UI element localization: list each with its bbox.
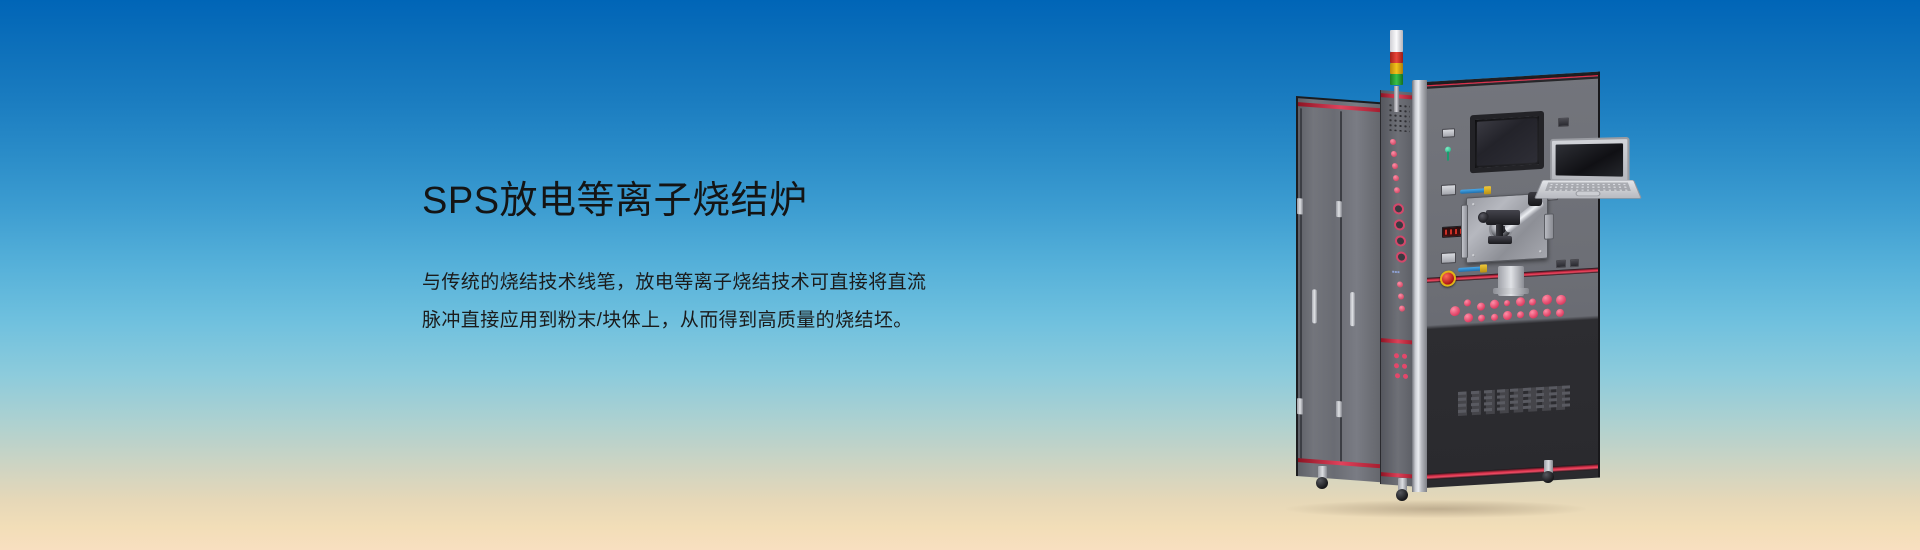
panel-button-right-1[interactable] [1558, 117, 1569, 127]
key-switch[interactable] [1444, 146, 1452, 160]
banner-text-block: SPS放电等离子烧结炉 与传统的烧结技术线笔，放电等离子烧结技术可直接将直流 脉… [422, 178, 1062, 341]
connector-port [1402, 364, 1407, 369]
connector-label: ■■■ [1392, 269, 1400, 275]
connector-port [1395, 373, 1400, 378]
caster-wheel [1396, 489, 1408, 501]
description-line-2: 脉冲直接应用到粉末/块体上，从而得到高质量的烧结坯。 [422, 302, 1062, 341]
caster-wheel-mid [1398, 478, 1408, 501]
toggle-switch[interactable] [1442, 128, 1455, 138]
connector-socket [1396, 251, 1407, 263]
lower-port [1450, 306, 1460, 317]
connector-port [1397, 281, 1403, 287]
laptop-trackpad[interactable] [1575, 191, 1600, 196]
connector-port [1391, 151, 1397, 157]
rear-cabinet-handle-1 [1312, 289, 1317, 323]
connector-port [1393, 175, 1399, 181]
front-top-trim [1424, 72, 1598, 89]
connector-port [1399, 305, 1405, 311]
camera-lens [1478, 212, 1489, 223]
connector-port [1392, 163, 1398, 169]
rear-cabinet-handle-2 [1350, 292, 1355, 326]
stack-light-red [1390, 52, 1403, 63]
lower-port [1491, 314, 1498, 321]
connector-socket [1393, 203, 1404, 215]
lower-port [1529, 309, 1538, 319]
panel-button-left-2[interactable] [1441, 252, 1456, 264]
key-switch-stem [1447, 152, 1449, 161]
arm-clamp-mount [1498, 266, 1524, 296]
connector-port [1398, 293, 1404, 299]
lower-port [1556, 309, 1564, 317]
lower-port [1503, 311, 1512, 321]
lower-port [1543, 308, 1551, 316]
rear-cabinet-hinge-1 [1297, 198, 1303, 214]
hero-banner: SPS放电等离子烧结炉 与传统的烧结技术线笔，放电等离子烧结技术可直接将直流 脉… [0, 0, 1920, 550]
caster-wheel [1542, 471, 1554, 483]
connector-port [1394, 353, 1399, 358]
caster-wheel-left [1318, 466, 1328, 489]
rear-cabinet-hinge-3 [1336, 201, 1342, 217]
sps-furnace-illustration: ■■■ [1296, 30, 1616, 520]
connector-port [1403, 374, 1408, 379]
control-laptop[interactable] [1542, 138, 1630, 212]
camera-body [1486, 210, 1520, 225]
stack-light-yellow [1390, 63, 1403, 74]
connector-socket [1394, 219, 1405, 231]
lower-vent-slats [1458, 385, 1570, 416]
emergency-stop-button[interactable] [1440, 270, 1456, 287]
laptop-keyboard[interactable] [1545, 183, 1631, 191]
connector-socket [1395, 235, 1406, 247]
connector-panel-trim-mid [1381, 338, 1415, 344]
description-line-1: 与传统的烧结技术线笔，放电等离子烧结技术可直接将直流 [422, 264, 1062, 303]
rear-cabinet-hinge-4 [1336, 401, 1342, 417]
laptop-base [1534, 180, 1642, 199]
cabinet-corner-post [1412, 80, 1427, 492]
inspection-camera [1478, 206, 1532, 250]
lower-port [1464, 313, 1473, 323]
laptop-display[interactable] [1556, 143, 1623, 176]
stack-light-cap [1390, 30, 1403, 52]
page-title: SPS放电等离子烧结炉 [422, 178, 1062, 226]
stack-light-green [1390, 74, 1403, 85]
laptop-lid [1550, 137, 1629, 183]
connector-port [1402, 354, 1407, 359]
connector-panel: ■■■ [1380, 90, 1416, 487]
lower-port [1517, 311, 1524, 318]
connector-port [1394, 187, 1400, 193]
stack-light-pole [1394, 86, 1399, 112]
chamber-hinge-bar [1461, 204, 1468, 258]
caster-wheel-right [1544, 460, 1554, 483]
panel-button-left-1[interactable] [1441, 184, 1456, 196]
connector-port [1394, 363, 1399, 368]
banner-description: 与传统的烧结技术线笔，放电等离子烧结技术可直接将直流 脉冲直接应用到粉末/块体上… [422, 264, 1062, 342]
stack-light-tower [1390, 30, 1403, 108]
lower-port [1464, 299, 1471, 306]
camera-tripod-head [1488, 236, 1512, 244]
rear-cabinet-hinge-2 [1297, 398, 1303, 414]
lower-port [1478, 314, 1485, 321]
front-bottom-trim [1424, 464, 1598, 480]
caster-wheel [1316, 477, 1328, 489]
connector-port [1390, 139, 1396, 145]
rear-cabinet [1296, 96, 1384, 482]
